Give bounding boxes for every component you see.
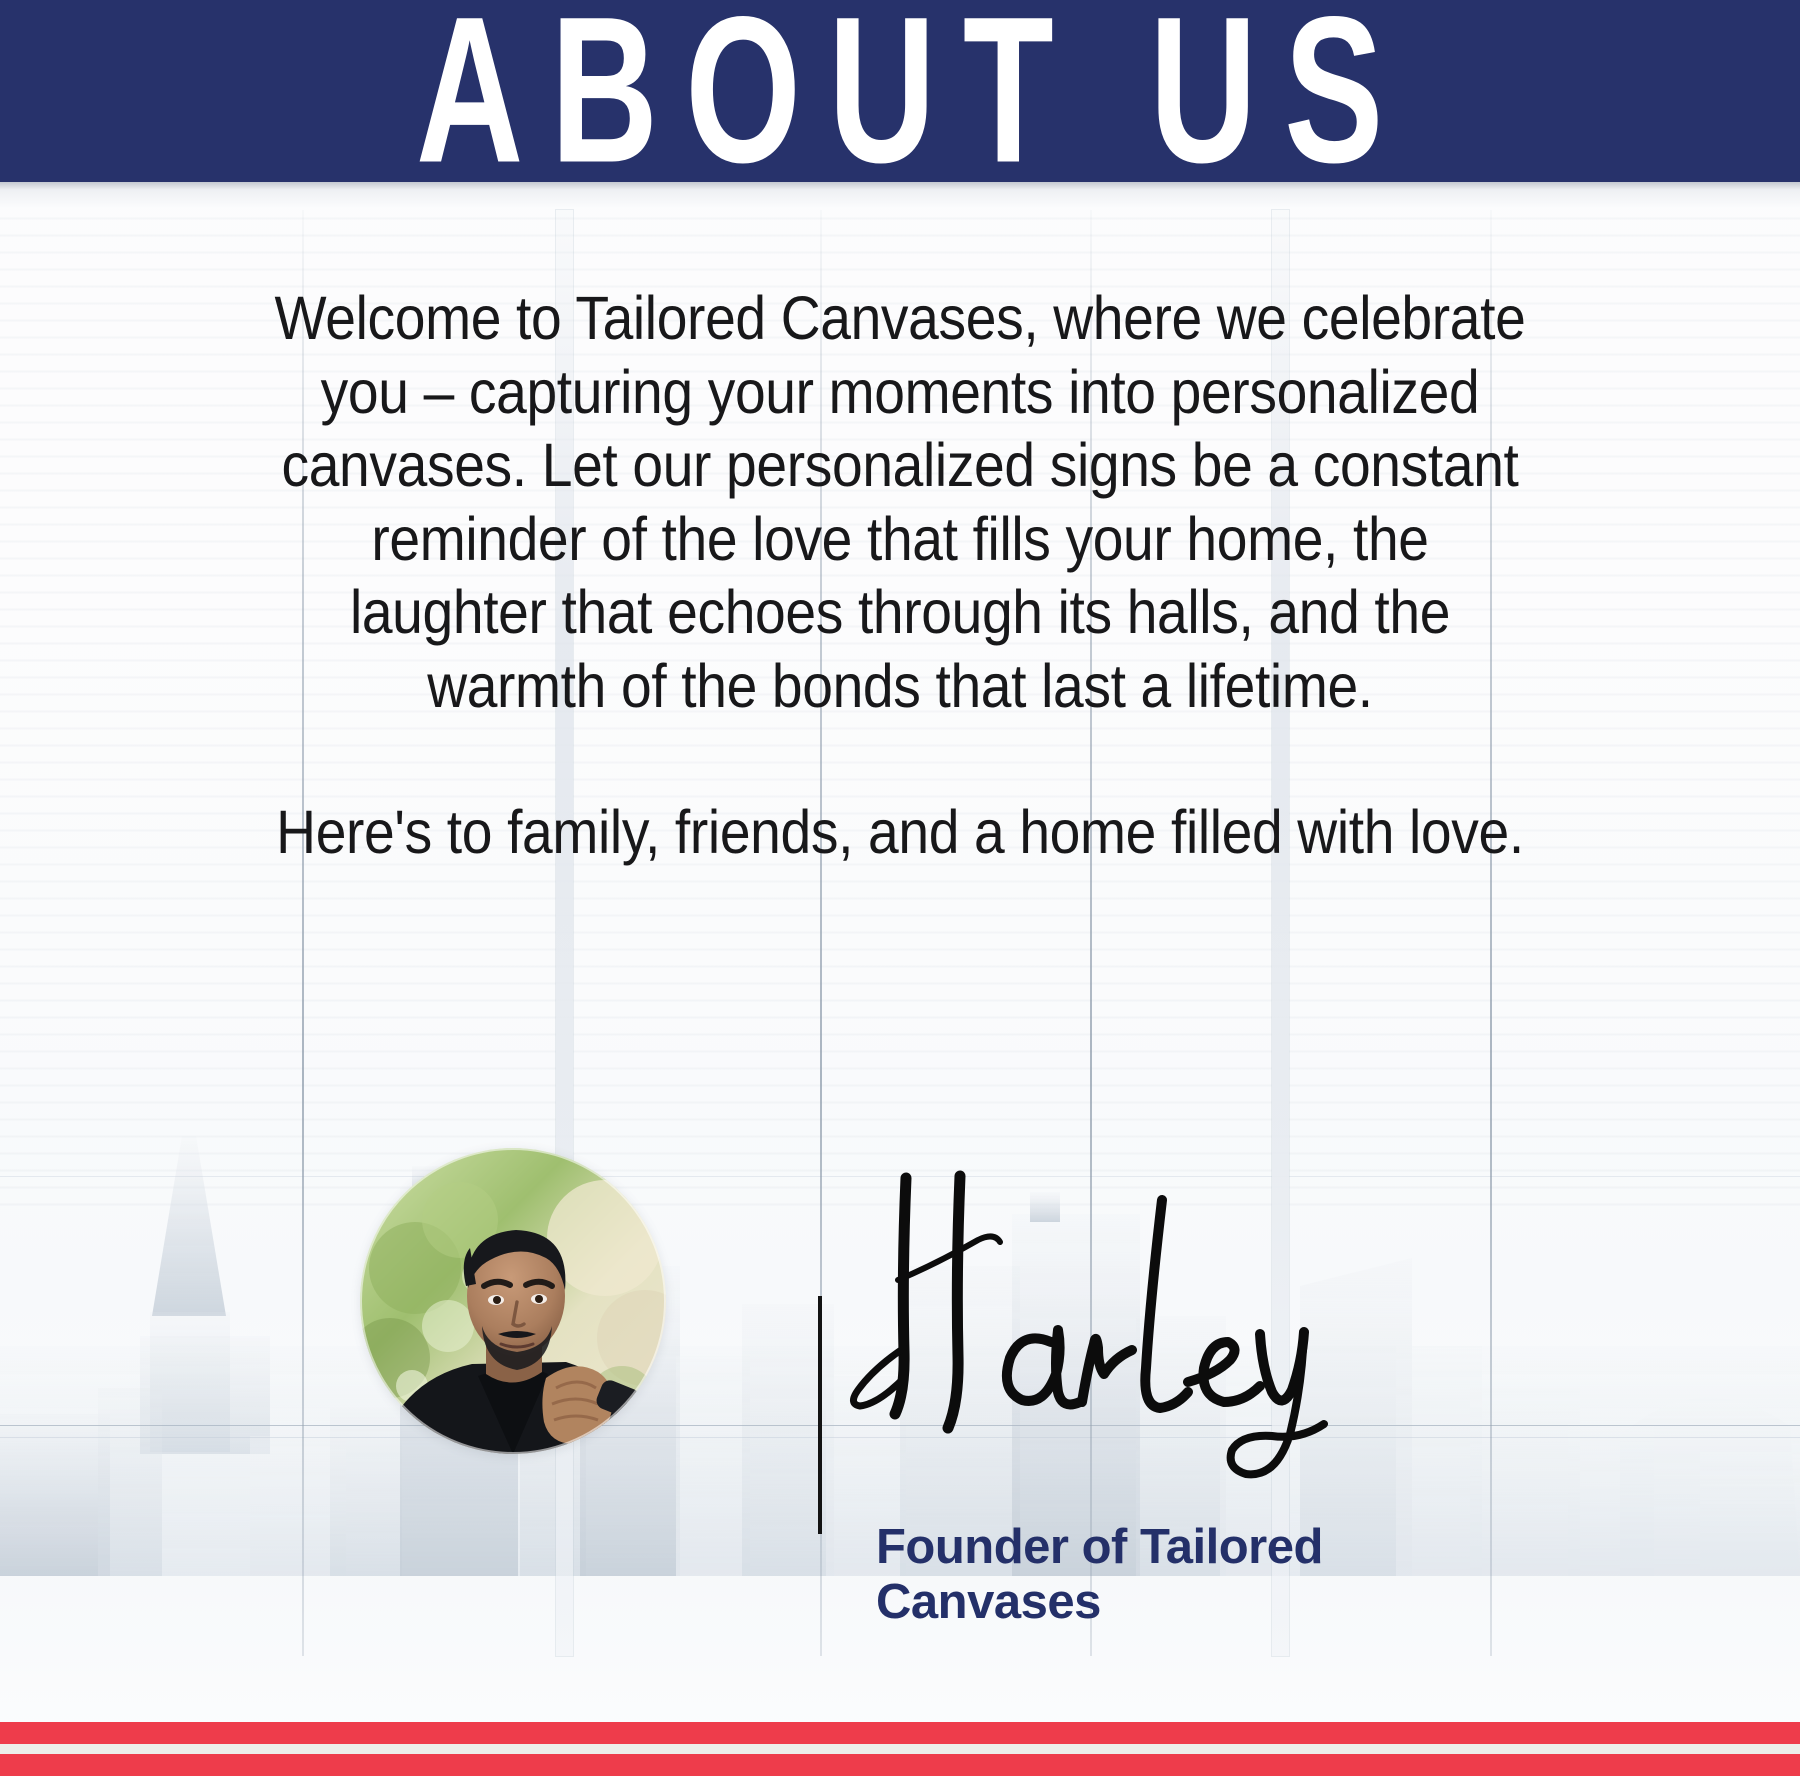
- window-rail: [0, 1425, 1800, 1426]
- founder-title-line-2: Canvases: [876, 1575, 1496, 1630]
- body-paragraph-1: Welcome to Tailored Canvases, where we c…: [274, 282, 1527, 723]
- header-band: ABOUT US: [0, 0, 1800, 182]
- avatar: [360, 1148, 666, 1454]
- footer-bar-gap: [0, 1744, 1800, 1754]
- signature-divider: [818, 1296, 822, 1534]
- founder-title: Founder of Tailored Canvases: [876, 1520, 1496, 1630]
- about-us-poster: ABOUT US Welcome to Tailored Canvases, w…: [0, 0, 1800, 1776]
- body-paragraph-2: Here's to family, friends, and a home fi…: [274, 796, 1527, 870]
- window-rail: [0, 1437, 1800, 1438]
- about-us-body-text: Welcome to Tailored Canvases, where we c…: [274, 282, 1527, 870]
- city-skyline-graphic: [0, 1016, 1800, 1576]
- window-rail: [0, 1176, 1800, 1177]
- page-title: ABOUT US: [389, 0, 1411, 182]
- footer-bar-top: [0, 1722, 1800, 1744]
- founder-title-line-1: Founder of Tailored: [876, 1520, 1496, 1575]
- header-drop-shadow: [0, 182, 1800, 208]
- footer-bar-bottom: [0, 1754, 1800, 1776]
